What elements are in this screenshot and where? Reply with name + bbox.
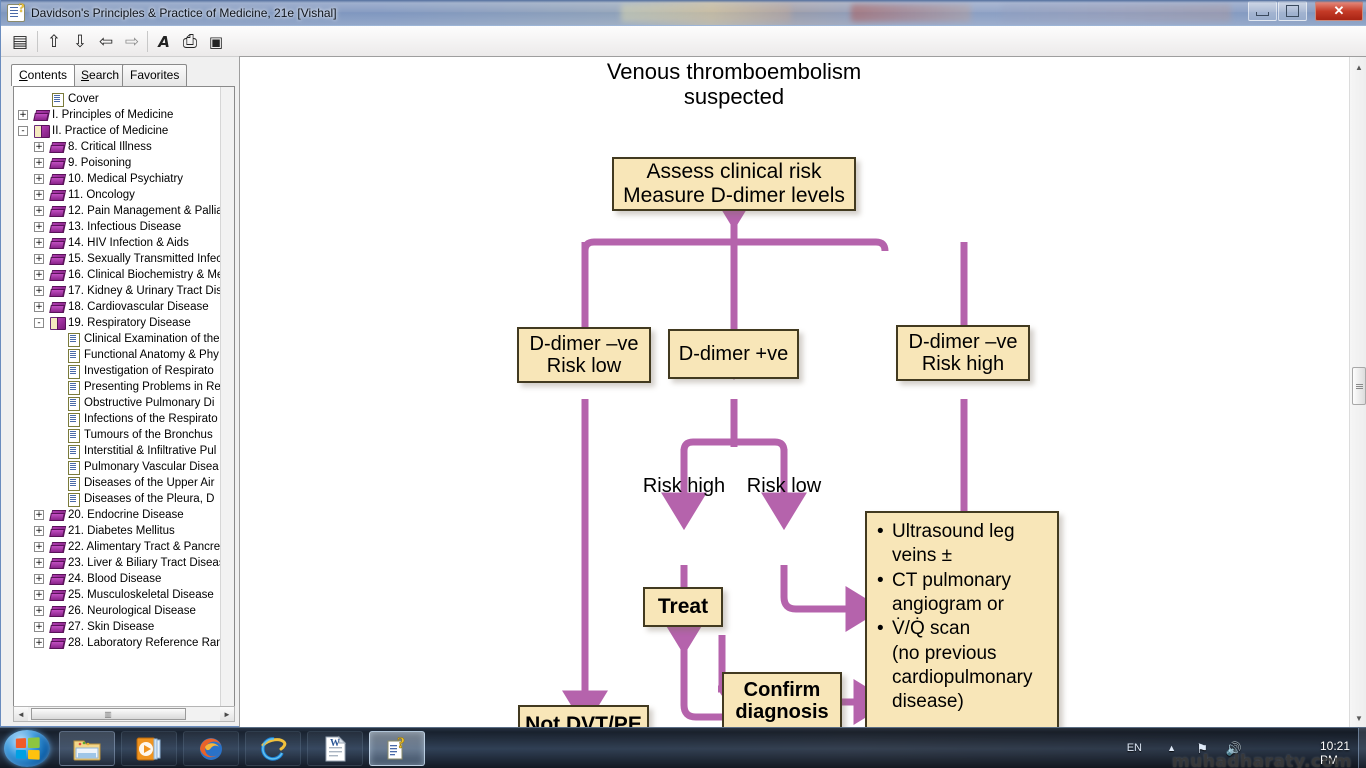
- up-arrow-icon: ⇧: [47, 32, 61, 52]
- tree-item[interactable]: Cover: [14, 91, 220, 107]
- toolbar-separator: [37, 31, 38, 52]
- previous-button[interactable]: ⇧: [41, 29, 67, 54]
- node-assess-line2: Measure D-dimer levels: [623, 184, 845, 208]
- node-ddimer-neg-high-line1: D-dimer –ve: [909, 331, 1018, 353]
- topic-page-icon: [66, 396, 81, 410]
- back-arrow-icon: ⇦: [99, 32, 113, 52]
- diagram-title-line1: Venous thromboembolism: [534, 60, 934, 85]
- tab-contents[interactable]: Contents: [11, 64, 75, 86]
- tree-item-label: Diseases of the Pleura, D: [84, 491, 214, 507]
- tree-item-label: Interstitial & Infiltrative Pul: [84, 443, 216, 459]
- tree-scroll-left-button[interactable]: ◄: [14, 707, 28, 721]
- next-button[interactable]: ⇩: [67, 29, 93, 54]
- tree-item-label: 24. Blood Disease: [68, 571, 161, 587]
- tree-item[interactable]: +14. HIV Infection & Aids: [14, 235, 220, 251]
- tree-scroll-thumb[interactable]: ▥: [31, 708, 186, 720]
- expand-icon[interactable]: +: [34, 190, 44, 200]
- expand-icon[interactable]: +: [34, 606, 44, 616]
- tree-item-label: 19. Respiratory Disease: [68, 315, 191, 331]
- tab-contents-accel: C: [19, 68, 28, 82]
- list-item: V̇/Q̇ scan (no previous cardiopulmonary …: [877, 617, 1051, 714]
- closed-book-icon: [50, 172, 65, 186]
- tree-item[interactable]: Pulmonary Vascular Disea: [14, 459, 220, 475]
- topic-page-icon: [66, 412, 81, 426]
- closed-book-icon: [50, 284, 65, 298]
- expand-icon[interactable]: +: [34, 590, 44, 600]
- contents-tree-pane[interactable]: Cover+I. Principles of Medicine-II. Prac…: [13, 86, 235, 712]
- expand-icon[interactable]: +: [34, 158, 44, 168]
- start-button[interactable]: [4, 730, 50, 767]
- maximize-restore-button[interactable]: [1278, 1, 1307, 21]
- tree-item-label: Tumours of the Bronchus: [84, 427, 213, 443]
- down-arrow-icon: ⇩: [73, 32, 87, 52]
- closed-book-icon: [50, 268, 65, 282]
- language-indicator[interactable]: EN: [1127, 742, 1142, 754]
- forward-arrow-icon: ⇨: [125, 32, 139, 52]
- tree-vertical-scrollbar[interactable]: [220, 87, 234, 711]
- tree-item[interactable]: +8. Critical Illness: [14, 139, 220, 155]
- content-vertical-scrollbar[interactable]: ▲ ▼: [1349, 57, 1366, 727]
- node-assess-clinical-risk: Assess clinical risk Measure D-dimer lev…: [612, 157, 856, 211]
- aero-blur-artifact: [1001, 4, 1231, 22]
- toolbar-separator: [147, 31, 148, 52]
- topic-content-pane: Venous thromboembolism suspected Assess …: [239, 56, 1366, 727]
- node-confirm-line1: Confirm: [735, 679, 828, 701]
- flowchart-canvas: Venous thromboembolism suspected Assess …: [240, 57, 1350, 727]
- tab-search[interactable]: Search: [73, 64, 127, 86]
- contents-tree: Cover+I. Principles of Medicine-II. Prac…: [14, 91, 220, 651]
- tree-item[interactable]: Investigation of Respirato: [14, 363, 220, 379]
- expand-icon[interactable]: +: [34, 174, 44, 184]
- node-ddimer-neg-low-line2: Risk low: [530, 355, 639, 377]
- tree-item-label: 15. Sexually Transmitted Infec: [68, 251, 222, 267]
- font-icon: A: [158, 33, 170, 51]
- close-icon: ✕: [1316, 2, 1362, 20]
- closed-book-icon: [50, 204, 65, 218]
- investigations-list: Ultrasound leg veins ± CT pulmonary angi…: [877, 520, 1051, 715]
- node-ddimer-neg-high-line2: Risk high: [909, 353, 1018, 375]
- tree-item[interactable]: +27. Skin Disease: [14, 619, 220, 635]
- expand-icon[interactable]: +: [34, 622, 44, 632]
- tree-item-label: 17. Kidney & Urinary Tract Dis: [68, 283, 222, 299]
- tree-item-label: 8. Critical Illness: [68, 139, 152, 155]
- inv-b1-line1: Ultrasound leg: [892, 521, 1015, 542]
- topic-page-icon: [66, 380, 81, 394]
- closed-book-icon: [50, 300, 65, 314]
- node-ddimer-negative-risk-high: D-dimer –ve Risk high: [896, 325, 1030, 381]
- print-button[interactable]: ⎙: [177, 29, 203, 54]
- inv-b2-line2: angiogram or: [892, 594, 1004, 615]
- navigation-tabs: Contents Search Favorites: [11, 64, 235, 86]
- closed-book-icon: [34, 108, 49, 122]
- options-icon: ▣: [209, 33, 223, 51]
- closed-book-icon: [50, 236, 65, 250]
- topic-page-icon: [66, 460, 81, 474]
- tree-item[interactable]: +12. Pain Management & Pallia: [14, 203, 220, 219]
- show-desktop-button[interactable]: [1358, 728, 1366, 768]
- tree-item-label: 9. Poisoning: [68, 155, 131, 171]
- node-ddimer-negative-risk-low: D-dimer –ve Risk low: [517, 327, 651, 383]
- aero-blur-artifact: [851, 4, 971, 22]
- window-title: Davidson's Principles & Practice of Medi…: [31, 4, 337, 22]
- closed-book-icon: [50, 620, 65, 634]
- forward-button[interactable]: ⇨: [119, 29, 145, 54]
- tree-item-label: Clinical Examination of the: [84, 331, 220, 347]
- expand-icon[interactable]: +: [34, 526, 44, 536]
- tree-item-label: 10. Medical Psychiatry: [68, 171, 183, 187]
- expand-icon[interactable]: +: [34, 574, 44, 584]
- tree-item[interactable]: Clinical Examination of the: [14, 331, 220, 347]
- tree-item[interactable]: +17. Kidney & Urinary Tract Dis: [14, 283, 220, 299]
- aero-blur-artifact: [621, 4, 791, 22]
- tree-item-label: 18. Cardiovascular Disease: [68, 299, 209, 315]
- list-item: Ultrasound leg veins ±: [877, 520, 1051, 569]
- tree-item-label: 12. Pain Management & Pallia: [68, 203, 223, 219]
- tree-item[interactable]: -19. Respiratory Disease: [14, 315, 220, 331]
- tab-favorites-label: Favorites: [130, 68, 179, 82]
- taskbar: W ? EN ▲ ⚑ 🔊 10:21 PM: [0, 727, 1366, 768]
- tree-item[interactable]: -II. Practice of Medicine: [14, 123, 220, 139]
- node-assess-line1: Assess clinical risk: [623, 160, 845, 184]
- printer-icon: ⎙: [183, 31, 197, 52]
- tree-item-label: 16. Clinical Biochemistry & Me: [68, 267, 223, 283]
- help-book-icon: ?: [382, 735, 412, 763]
- tree-item[interactable]: +21. Diabetes Mellitus: [14, 523, 220, 539]
- collapse-icon[interactable]: -: [18, 126, 28, 136]
- node-treat: Treat: [643, 587, 723, 627]
- tab-search-accel: S: [81, 68, 89, 82]
- expand-icon[interactable]: +: [34, 558, 44, 568]
- taskbar-item-media-player[interactable]: [121, 731, 177, 766]
- tree-item[interactable]: +13. Infectious Disease: [14, 219, 220, 235]
- expand-icon[interactable]: +: [34, 254, 44, 264]
- topic-page-icon: [66, 428, 81, 442]
- expand-icon[interactable]: +: [34, 238, 44, 248]
- tree-item[interactable]: +23. Liver & Biliary Tract Diseas: [14, 555, 220, 571]
- tree-item[interactable]: Diseases of the Pleura, D: [14, 491, 220, 507]
- tree-item-label: Presenting Problems in Re: [84, 379, 221, 395]
- tree-item[interactable]: Tumours of the Bronchus: [14, 427, 220, 443]
- content-scroll-thumb[interactable]: [1352, 367, 1366, 405]
- minimize-button[interactable]: [1248, 1, 1277, 21]
- tree-item-label: 22. Alimentary Tract & Pancre: [68, 539, 220, 555]
- title-bar: ? Davidson's Principles & Practice of Me…: [1, 0, 1366, 26]
- inv-b3-line2: (no previous: [892, 643, 997, 664]
- topic-page-icon: [66, 332, 81, 346]
- expand-icon[interactable]: +: [34, 222, 44, 232]
- tree-item-label: Cover: [68, 91, 99, 107]
- node-not-dvt-pe-label: Not DVT/PE: [525, 713, 642, 727]
- tree-item-label: II. Practice of Medicine: [52, 123, 168, 139]
- tree-item-label: 28. Laboratory Reference Ran: [68, 635, 223, 651]
- tree-item-label: 27. Skin Disease: [68, 619, 154, 635]
- closed-book-icon: [50, 588, 65, 602]
- options-button[interactable]: ▣: [203, 29, 229, 54]
- tree-item[interactable]: +28. Laboratory Reference Ran: [14, 635, 220, 651]
- word-document-icon: W: [320, 735, 350, 763]
- closed-book-icon: [50, 220, 65, 234]
- inv-b1-line2: veins ±: [892, 545, 952, 566]
- scroll-down-button[interactable]: ▼: [1351, 710, 1366, 726]
- tree-item-label: 25. Musculoskeletal Disease: [68, 587, 214, 603]
- taskbar-item-word[interactable]: W: [307, 731, 363, 766]
- expand-icon[interactable]: +: [34, 510, 44, 520]
- closed-book-icon: [50, 524, 65, 538]
- svg-text:W: W: [330, 738, 340, 749]
- closed-book-icon: [50, 556, 65, 570]
- closed-book-icon: [50, 604, 65, 618]
- tree-item[interactable]: Interstitial & Infiltrative Pul: [14, 443, 220, 459]
- tree-item[interactable]: Functional Anatomy & Phy: [14, 347, 220, 363]
- hide-pane-icon: ▤: [12, 32, 28, 52]
- tree-item-label: 23. Liver & Biliary Tract Diseas: [68, 555, 225, 571]
- closed-book-icon: [50, 252, 65, 266]
- tree-item[interactable]: +9. Poisoning: [14, 155, 220, 171]
- tree-horizontal-scrollbar[interactable]: ◄ ▥ ►: [13, 706, 235, 722]
- close-button[interactable]: ✕: [1315, 1, 1363, 21]
- tree-item-label: 26. Neurological Disease: [68, 603, 196, 619]
- node-investigations: Ultrasound leg veins ± CT pulmonary angi…: [865, 511, 1059, 727]
- media-player-icon: [134, 735, 164, 763]
- node-ddimer-neg-low-line1: D-dimer –ve: [530, 333, 639, 355]
- tree-item[interactable]: +I. Principles of Medicine: [14, 107, 220, 123]
- svg-text:?: ?: [397, 735, 405, 752]
- tree-item-label: Diseases of the Upper Air: [84, 475, 214, 491]
- tree-item-label: 14. HIV Infection & Aids: [68, 235, 189, 251]
- tab-contents-label: ontents: [28, 68, 67, 82]
- node-ddimer-pos-label: D-dimer +ve: [679, 343, 788, 365]
- tree-item-label: Obstructive Pulmonary Di: [84, 395, 214, 411]
- list-item: CT pulmonary angiogram or: [877, 569, 1051, 618]
- tree-item[interactable]: Diseases of the Upper Air: [14, 475, 220, 491]
- closed-book-icon: [50, 572, 65, 586]
- node-confirm-line2: diagnosis: [735, 701, 828, 723]
- site-watermark: muhadharaty.com: [1172, 752, 1352, 768]
- tree-item[interactable]: +16. Clinical Biochemistry & Me: [14, 267, 220, 283]
- help-viewer-window: ? Davidson's Principles & Practice of Me…: [0, 0, 1366, 727]
- diagram-title: Venous thromboembolism suspected: [534, 60, 934, 109]
- tree-item-label: Investigation of Respirato: [84, 363, 214, 379]
- tree-item[interactable]: +25. Musculoskeletal Disease: [14, 587, 220, 603]
- topic-page-icon: [66, 476, 81, 490]
- collapse-icon[interactable]: -: [34, 318, 44, 328]
- tree-item-label: 20. Endocrine Disease: [68, 507, 184, 523]
- tree-item-label: 13. Infectious Disease: [68, 219, 181, 235]
- tree-item-label: 21. Diabetes Mellitus: [68, 523, 175, 539]
- topic-page-icon: [66, 444, 81, 458]
- diagram-title-line2: suspected: [534, 85, 934, 110]
- topic-page-icon: [50, 92, 65, 106]
- toolbar: ▤ ⇧ ⇩ ⇦ ⇨ A ⎙ ▣: [1, 26, 1366, 57]
- tree-item[interactable]: +20. Endocrine Disease: [14, 507, 220, 523]
- label-risk-high: Risk high: [624, 475, 744, 497]
- tree-item[interactable]: +24. Blood Disease: [14, 571, 220, 587]
- expand-icon[interactable]: +: [34, 270, 44, 280]
- closed-book-icon: [50, 156, 65, 170]
- expand-icon[interactable]: +: [34, 286, 44, 296]
- folder-icon: [72, 735, 102, 763]
- tree-item[interactable]: +10. Medical Psychiatry: [14, 171, 220, 187]
- tree-item-label: Pulmonary Vascular Disea: [84, 459, 219, 475]
- closed-book-icon: [50, 540, 65, 554]
- closed-book-icon: [50, 508, 65, 522]
- screen: ? Davidson's Principles & Practice of Me…: [0, 0, 1366, 768]
- inv-b3-line4: disease): [892, 691, 964, 712]
- open-book-icon: [34, 124, 49, 138]
- tree-item[interactable]: Presenting Problems in Re: [14, 379, 220, 395]
- tree-item-label: Functional Anatomy & Phy: [84, 347, 219, 363]
- windows-logo-icon: [16, 737, 40, 759]
- taskbar-item-firefox[interactable]: [183, 731, 239, 766]
- taskbar-item-ie[interactable]: [245, 731, 301, 766]
- node-not-dvt-pe: Not DVT/PE: [518, 705, 649, 727]
- expand-icon[interactable]: +: [34, 542, 44, 552]
- node-confirm-diagnosis: Confirm diagnosis: [722, 672, 842, 727]
- tree-item[interactable]: +11. Oncology: [14, 187, 220, 203]
- taskbar-item-explorer[interactable]: [59, 731, 115, 766]
- inv-b2-line1: CT pulmonary: [892, 570, 1011, 591]
- tab-favorites[interactable]: Favorites: [122, 64, 187, 86]
- hide-pane-button[interactable]: ▤: [7, 29, 33, 54]
- expand-icon[interactable]: +: [34, 206, 44, 216]
- closed-book-icon: [50, 188, 65, 202]
- node-treat-label: Treat: [658, 595, 708, 619]
- label-risk-low: Risk low: [729, 475, 839, 497]
- tree-item-label: 11. Oncology: [68, 187, 135, 203]
- node-ddimer-positive: D-dimer +ve: [668, 329, 799, 379]
- topic-page-icon: [66, 492, 81, 506]
- inv-b3-line3: cardiopulmonary: [892, 667, 1032, 688]
- closed-book-icon: [50, 636, 65, 650]
- tree-item[interactable]: Obstructive Pulmonary Di: [14, 395, 220, 411]
- tree-item-label: I. Principles of Medicine: [52, 107, 173, 123]
- topic-page-icon: [66, 364, 81, 378]
- tree-item-label: Infections of the Respirato: [84, 411, 218, 427]
- back-button[interactable]: ⇦: [93, 29, 119, 54]
- topic-page-icon: [66, 348, 81, 362]
- font-size-button[interactable]: A: [151, 29, 177, 54]
- expand-icon[interactable]: +: [18, 110, 28, 120]
- tree-item[interactable]: +22. Alimentary Tract & Pancre: [14, 539, 220, 555]
- help-book-icon: ?: [7, 4, 25, 22]
- tree-scroll-right-button[interactable]: ►: [220, 707, 234, 721]
- closed-book-icon: [50, 140, 65, 154]
- inv-b3-line1: V̇/Q̇ scan: [892, 618, 970, 639]
- internet-explorer-icon: [258, 735, 288, 763]
- expand-icon[interactable]: +: [34, 142, 44, 152]
- firefox-icon: [196, 735, 226, 763]
- tab-search-label: earch: [89, 68, 119, 82]
- scroll-up-button[interactable]: ▲: [1351, 59, 1366, 75]
- tree-item[interactable]: +15. Sexually Transmitted Infec: [14, 251, 220, 267]
- tree-item[interactable]: +18. Cardiovascular Disease: [14, 299, 220, 315]
- taskbar-item-help[interactable]: ?: [369, 731, 425, 766]
- open-book-icon: [50, 316, 65, 330]
- tree-item[interactable]: +26. Neurological Disease: [14, 603, 220, 619]
- expand-icon[interactable]: +: [34, 302, 44, 312]
- tree-item[interactable]: Infections of the Respirato: [14, 411, 220, 427]
- expand-icon[interactable]: +: [34, 638, 44, 648]
